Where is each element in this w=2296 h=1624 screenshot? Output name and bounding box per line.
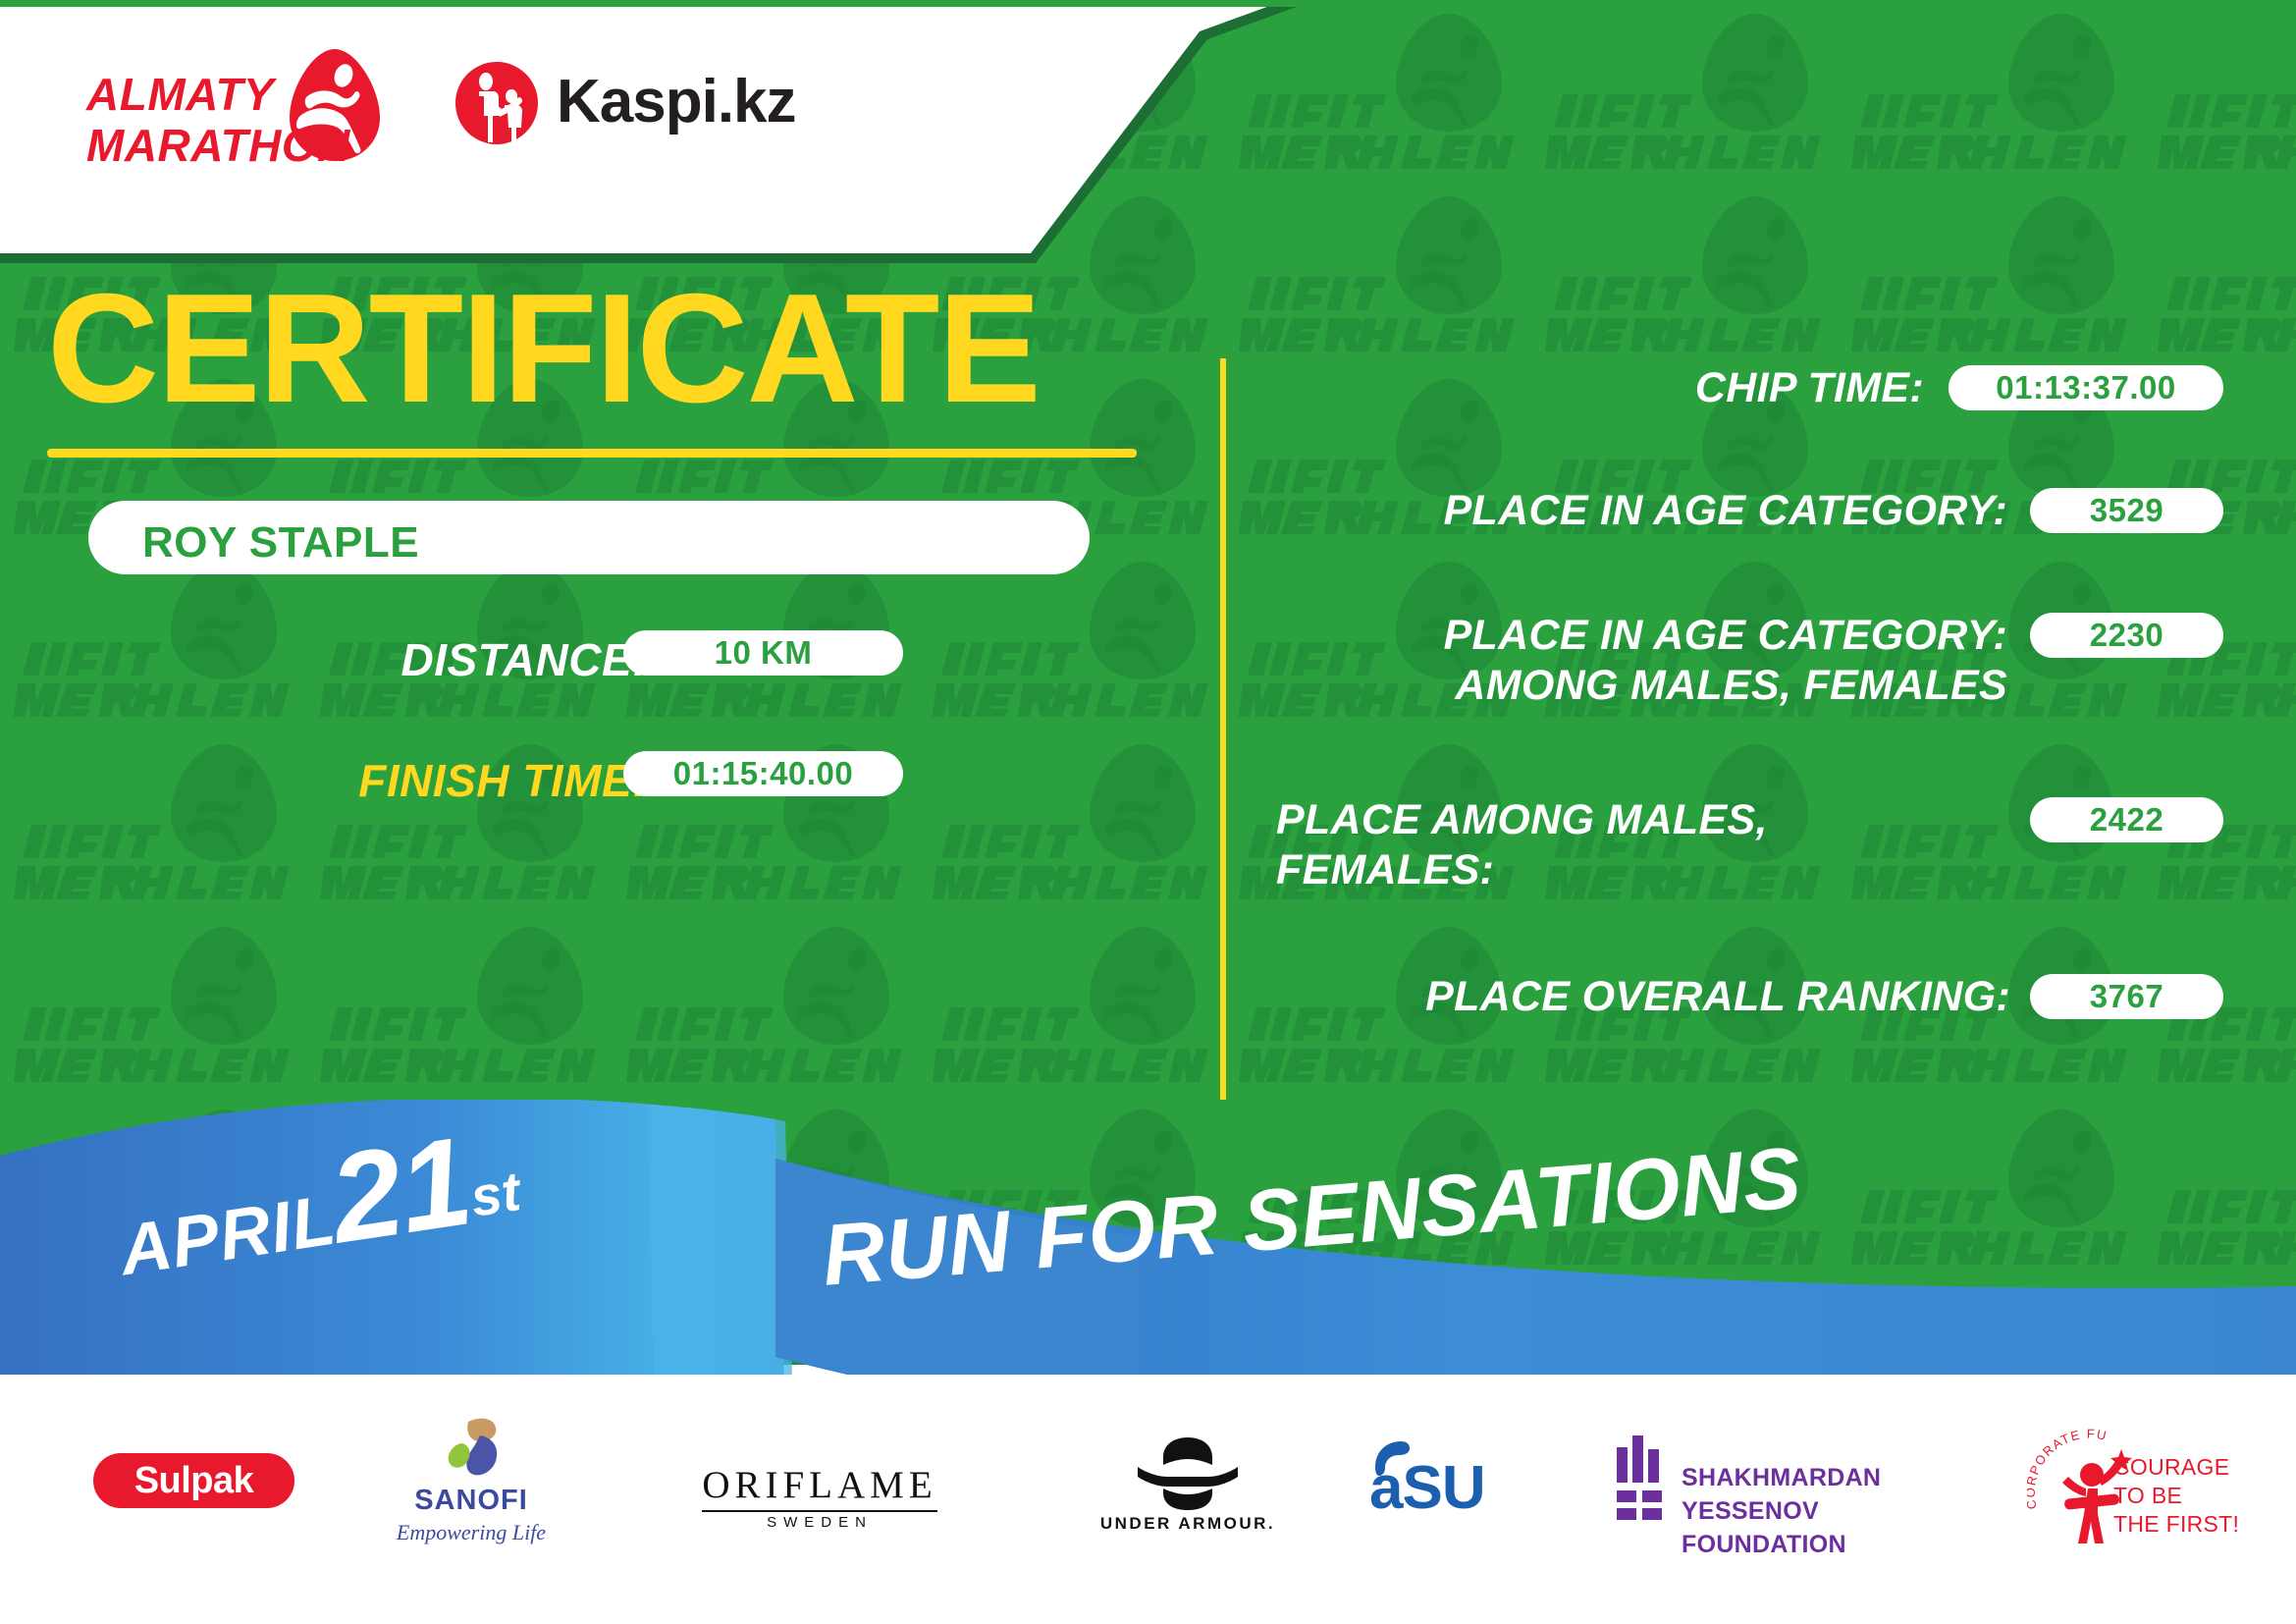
finish-time-value-pill: 01:15:40.00 — [623, 751, 903, 796]
courage-fund-wordmark: COURAGE TO BE THE FIRST! — [2113, 1453, 2261, 1539]
sponsor-under-armour: UNDER ARMOUR. — [1080, 1375, 1296, 1624]
kaspi-family-icon — [454, 61, 539, 145]
sponsor-sulpak: Sulpak — [93, 1375, 294, 1624]
marathon-logo-line2: MARATHON — [86, 120, 350, 171]
place-age-category-label: PLACE IN AGE CATEGORY: — [1276, 486, 2007, 536]
sponsor-oriflame: ORIFLAME SWEDEN — [692, 1375, 947, 1624]
almaty-marathon-logo: ALMATY MARATHON — [86, 47, 410, 175]
distance-value: 10 KM — [715, 634, 813, 672]
chip-time-value-pill: 01:13:37.00 — [1949, 365, 2223, 410]
place-age-category-among-value: 2230 — [2090, 617, 2163, 654]
place-overall-ranking-value-pill: 3767 — [2030, 974, 2223, 1019]
place-age-category-among-label-line1: PLACE IN AGE CATEGORY: — [1301, 611, 2007, 661]
place-age-category-among-label-line2: AMONG MALES, FEMALES — [1301, 661, 2007, 711]
participant-name-field: ROY STAPLE — [88, 501, 1090, 574]
sponsors-bar: Sulpak SANOFI Empowering Life ORIFLAME S… — [0, 1375, 2296, 1624]
courage-line2: TO BE — [2113, 1482, 2261, 1510]
oriflame-wordmark: ORIFLAME — [692, 1463, 947, 1507]
place-age-category-among-value-pill: 2230 — [2030, 613, 2223, 658]
place-among-males-females-value-pill: 2422 — [2030, 797, 2223, 842]
page-title: CERTIFICATE — [47, 265, 1040, 432]
under-armour-wordmark: UNDER ARMOUR. — [1080, 1514, 1296, 1534]
yessenov-wordmark: SHAKHMARDAN YESSENOV FOUNDATION — [1682, 1461, 1976, 1561]
event-day-suffix: st — [466, 1160, 524, 1228]
place-age-category-value-pill: 3529 — [2030, 488, 2223, 533]
certificate-canvas: ALMATY MARATHON Kaspi.kz CERTIFICATE — [0, 0, 2296, 1624]
place-among-males-females-value: 2422 — [2090, 801, 2163, 839]
under-armour-icon — [1124, 1435, 1252, 1512]
sanofi-mark-icon — [439, 1416, 504, 1485]
chip-time-value: 01:13:37.00 — [1996, 369, 2175, 406]
sponsor-courage-fund: CORPORATE FUND COURAGE TO BE THE FIRST! — [2037, 1375, 2272, 1624]
distance-label: DISTANCE: — [400, 633, 648, 686]
asu-wordmark: aSU — [1369, 1453, 1485, 1523]
courage-line3: THE FIRST! — [2113, 1510, 2261, 1539]
oriflame-rule — [702, 1510, 937, 1512]
marathon-logo-line1: ALMATY — [86, 69, 350, 120]
oriflame-subtext: SWEDEN — [692, 1514, 947, 1531]
sanofi-wordmark: SANOFI — [383, 1485, 560, 1517]
title-underline — [47, 449, 1137, 458]
finish-time-label: FINISH TIME: — [358, 754, 648, 807]
finish-time-value: 01:15:40.00 — [673, 755, 853, 792]
sanofi-tagline: Empowering Life — [383, 1520, 560, 1545]
almaty-marathon-wordmark: ALMATY MARATHON — [86, 69, 350, 171]
place-overall-ranking-value: 3767 — [2090, 978, 2163, 1015]
chip-time-label: CHIP TIME: — [1276, 363, 1924, 413]
event-month: APRIL — [115, 1181, 341, 1291]
metric-row-distance: DISTANCE: — [0, 633, 648, 686]
place-overall-ranking-label: PLACE OVERALL RANKING: — [1276, 972, 2010, 1022]
sulpak-logo: Sulpak — [93, 1453, 294, 1508]
sulpak-wordmark: Sulpak — [134, 1460, 254, 1502]
event-day: 21 — [322, 1110, 479, 1270]
left-panel: CERTIFICATE ROY STAPLE DISTANCE: 10 KM F… — [0, 265, 1207, 1051]
place-among-males-females-label-line2: FEMALES: — [1276, 845, 1963, 895]
kaspi-logo: Kaspi.kz — [454, 61, 749, 159]
courage-line1: COURAGE — [2113, 1453, 2261, 1482]
place-age-category-among-label: PLACE IN AGE CATEGORY: AMONG MALES, FEMA… — [1301, 611, 2007, 711]
yessenov-line2: FOUNDATION — [1682, 1528, 1976, 1561]
place-among-males-females-label: PLACE AMONG MALES, FEMALES: — [1276, 795, 1963, 895]
results-panel: CHIP TIME: 01:13:37.00 PLACE IN AGE CATE… — [1276, 363, 2258, 1090]
yessenov-line1: SHAKHMARDAN YESSENOV — [1682, 1461, 1976, 1528]
sponsor-yessenov-foundation: SHAKHMARDAN YESSENOV FOUNDATION — [1615, 1375, 2027, 1624]
header-logos: ALMATY MARATHON Kaspi.kz — [0, 0, 1178, 265]
kaspi-wordmark: Kaspi.kz — [557, 67, 796, 136]
yessenov-mark-icon — [1615, 1434, 1674, 1532]
place-among-males-females-label-line1: PLACE AMONG MALES, — [1276, 795, 1963, 845]
vertical-divider — [1220, 358, 1226, 1100]
place-age-category-value: 3529 — [2090, 492, 2163, 529]
distance-value-pill: 10 KM — [623, 630, 903, 676]
sponsor-asu: aSU — [1369, 1375, 1536, 1624]
participant-name-value: ROY STAPLE — [142, 518, 419, 568]
metric-row-finish-time: FINISH TIME: — [0, 754, 648, 807]
sponsor-sanofi: SANOFI Empowering Life — [383, 1375, 560, 1624]
